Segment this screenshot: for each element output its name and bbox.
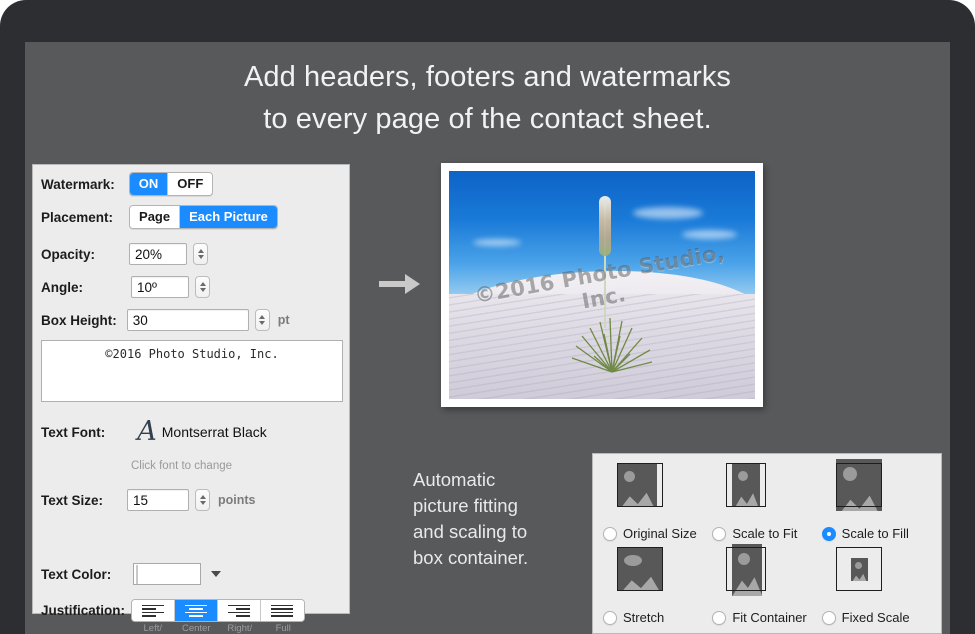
chevron-up-icon[interactable] bbox=[200, 495, 206, 499]
placement-row: Placement: Page Each Picture bbox=[41, 206, 278, 228]
justify-center-label: Center bbox=[175, 623, 219, 634]
original-size-radio-row[interactable]: Original Size bbox=[603, 526, 697, 541]
angle-row: Angle: 10º bbox=[41, 276, 210, 298]
radio-label[interactable]: Original Size bbox=[623, 526, 697, 541]
align-bar bbox=[271, 608, 293, 610]
caption-line-3: and scaling to bbox=[413, 519, 588, 545]
align-bar bbox=[189, 608, 203, 610]
radio-label[interactable]: Fit Container bbox=[732, 610, 806, 625]
justification-row: Justification: bbox=[41, 599, 125, 621]
text-size-input[interactable]: 15 bbox=[127, 489, 189, 511]
watermark-toggle[interactable]: ON OFF bbox=[129, 172, 214, 196]
photo-image: ©2016 Photo Studio, Inc. bbox=[449, 171, 755, 399]
justify-full-button[interactable] bbox=[261, 600, 304, 621]
radio-fixed-scale[interactable] bbox=[822, 611, 836, 625]
scale-to-fill-thumbnail-icon bbox=[836, 463, 890, 511]
radio-label[interactable]: Fixed Scale bbox=[842, 610, 910, 625]
radio-label[interactable]: Stretch bbox=[623, 610, 664, 625]
watermark-row: Watermark: ON OFF bbox=[41, 173, 213, 195]
chevron-down-icon[interactable] bbox=[200, 501, 206, 505]
color-swatch-fill bbox=[136, 565, 138, 584]
align-bar bbox=[228, 605, 250, 607]
placement-toggle[interactable]: Page Each Picture bbox=[129, 205, 278, 229]
box-height-unit: pt bbox=[278, 313, 290, 327]
text-font-label: Text Font: bbox=[41, 425, 105, 440]
text-size-unit: points bbox=[218, 493, 256, 507]
caption-line-4: box container. bbox=[413, 545, 588, 571]
scale-to-fit-thumbnail-icon bbox=[726, 463, 780, 511]
opacity-label: Opacity: bbox=[41, 247, 95, 262]
picture-scaling-panel: Original Size Scale to Fit bbox=[592, 453, 942, 634]
original-size-thumbnail-icon bbox=[617, 463, 671, 511]
angle-input[interactable]: 10º bbox=[131, 276, 189, 298]
chevron-up-icon[interactable] bbox=[259, 315, 265, 319]
box-height-stepper[interactable] bbox=[255, 309, 270, 331]
align-bar bbox=[185, 605, 207, 607]
font-change-hint: Click font to change bbox=[131, 460, 232, 472]
justify-center-button[interactable] bbox=[175, 600, 218, 621]
justification-group[interactable] bbox=[131, 599, 305, 622]
thumb-frame bbox=[726, 547, 766, 591]
photo-preview: ©2016 Photo Studio, Inc. bbox=[441, 163, 763, 407]
font-name-value[interactable]: Montserrat Black bbox=[162, 424, 267, 440]
screenshot-root: Add headers, footers and watermarks to e… bbox=[0, 0, 975, 634]
thumb-frame bbox=[836, 547, 882, 591]
opacity-input[interactable]: 20% bbox=[129, 243, 187, 265]
thumb-frame bbox=[617, 463, 663, 507]
justify-right-button[interactable] bbox=[218, 600, 261, 621]
opacity-row: Opacity: 20% bbox=[41, 243, 208, 265]
placement-each-picture-option[interactable]: Each Picture bbox=[180, 206, 277, 228]
watermark-label: Watermark: bbox=[41, 177, 115, 192]
scaling-option-fit-container[interactable]: Fit Container bbox=[712, 547, 821, 625]
text-color-row: Text Color: bbox=[41, 563, 221, 585]
radio-label[interactable]: Scale to Fit bbox=[732, 526, 797, 541]
justify-left-button[interactable] bbox=[132, 600, 175, 621]
fixed-scale-thumbnail-icon bbox=[836, 547, 890, 595]
text-color-label: Text Color: bbox=[41, 567, 111, 582]
align-bar bbox=[185, 612, 207, 614]
yucca-plant bbox=[570, 312, 654, 374]
headline-line-1: Add headers, footers and watermarks bbox=[25, 56, 950, 98]
placement-page-option[interactable]: Page bbox=[130, 206, 180, 228]
align-bar bbox=[236, 608, 250, 610]
fit-container-radio-row[interactable]: Fit Container bbox=[712, 610, 806, 625]
placement-label: Placement: bbox=[41, 210, 113, 225]
text-font-row: Text Font: A Montserrat Black bbox=[41, 417, 267, 447]
chevron-down-icon[interactable] bbox=[200, 288, 206, 292]
font-preview-icon[interactable]: A bbox=[137, 419, 157, 445]
thumb-frame bbox=[836, 463, 882, 507]
align-bar bbox=[189, 615, 203, 617]
scaling-option-fixed-scale[interactable]: Fixed Scale bbox=[822, 547, 931, 625]
align-bar bbox=[271, 605, 293, 607]
radio-stretch[interactable] bbox=[603, 611, 617, 625]
page-title: Add headers, footers and watermarks to e… bbox=[25, 56, 950, 140]
justify-left-label: Left/ Inside bbox=[131, 623, 175, 634]
align-bar bbox=[271, 615, 293, 617]
align-bar bbox=[228, 612, 250, 614]
watermark-settings-panel: Watermark: ON OFF Placement: Page Each P… bbox=[32, 164, 350, 614]
box-height-input[interactable]: 30 bbox=[127, 309, 249, 331]
caption-line-2: picture fitting bbox=[413, 493, 588, 519]
chevron-down-icon[interactable] bbox=[211, 571, 221, 577]
scaling-caption: Automatic picture fitting and scaling to… bbox=[413, 467, 588, 571]
yucca-bloom bbox=[599, 196, 611, 256]
headline-line-2: to every page of the contact sheet. bbox=[25, 98, 950, 140]
justify-full-label: Full Justify bbox=[262, 623, 306, 634]
align-bar bbox=[142, 608, 156, 610]
justification-labels: Left/ Inside Center Right/ Outsid Full J… bbox=[131, 623, 305, 634]
arrow-right-icon bbox=[377, 270, 423, 298]
watermark-on-option[interactable]: ON bbox=[130, 173, 169, 195]
justify-right-label: Right/ Outsid bbox=[218, 623, 262, 634]
scale-to-fill-radio-row[interactable]: Scale to Fill bbox=[822, 526, 909, 541]
scaling-option-original-size[interactable]: Original Size bbox=[603, 463, 712, 541]
chevron-up-icon[interactable] bbox=[198, 249, 204, 253]
radio-original-size[interactable] bbox=[603, 527, 617, 541]
justification-label: Justification: bbox=[41, 603, 125, 618]
scaling-option-stretch[interactable]: Stretch bbox=[603, 547, 712, 625]
box-height-label: Box Height: bbox=[41, 313, 117, 328]
align-bar bbox=[236, 615, 250, 617]
align-bar bbox=[142, 605, 164, 607]
align-bar bbox=[142, 615, 156, 617]
box-height-row: Box Height: 30 pt bbox=[41, 309, 290, 331]
align-bar bbox=[142, 612, 164, 614]
text-size-row: Text Size: 15 points bbox=[41, 489, 256, 511]
angle-label: Angle: bbox=[41, 280, 83, 295]
scaling-option-scale-to-fit[interactable]: Scale to Fit bbox=[712, 463, 821, 541]
caption-line-1: Automatic bbox=[413, 467, 588, 493]
thumb-frame bbox=[726, 463, 766, 507]
angle-stepper[interactable] bbox=[195, 276, 210, 298]
radio-fit-container[interactable] bbox=[712, 611, 726, 625]
stretch-thumbnail-icon bbox=[617, 547, 671, 595]
radio-label[interactable]: Scale to Fill bbox=[842, 526, 909, 541]
fixed-scale-radio-row[interactable]: Fixed Scale bbox=[822, 610, 910, 625]
scale-to-fit-radio-row[interactable]: Scale to Fit bbox=[712, 526, 797, 541]
text-size-stepper[interactable] bbox=[195, 489, 210, 511]
chevron-down-icon[interactable] bbox=[259, 321, 265, 325]
scaling-option-scale-to-fill[interactable]: Scale to Fill bbox=[822, 463, 931, 541]
text-color-swatch[interactable] bbox=[133, 563, 201, 585]
radio-scale-to-fit[interactable] bbox=[712, 527, 726, 541]
text-size-label: Text Size: bbox=[41, 493, 103, 508]
scaling-options-grid: Original Size Scale to Fit bbox=[603, 463, 931, 625]
fit-container-thumbnail-icon bbox=[726, 547, 780, 595]
opacity-stepper[interactable] bbox=[193, 243, 208, 265]
stretch-radio-row[interactable]: Stretch bbox=[603, 610, 664, 625]
align-bar bbox=[271, 612, 293, 614]
thumb-frame bbox=[617, 547, 663, 591]
slide-canvas: Add headers, footers and watermarks to e… bbox=[25, 42, 950, 634]
radio-scale-to-fill[interactable] bbox=[822, 527, 836, 541]
chevron-down-icon[interactable] bbox=[198, 255, 204, 259]
chevron-up-icon[interactable] bbox=[200, 282, 206, 286]
watermark-text-input[interactable]: ©2016 Photo Studio, Inc. bbox=[41, 340, 343, 402]
watermark-off-option[interactable]: OFF bbox=[168, 173, 212, 195]
